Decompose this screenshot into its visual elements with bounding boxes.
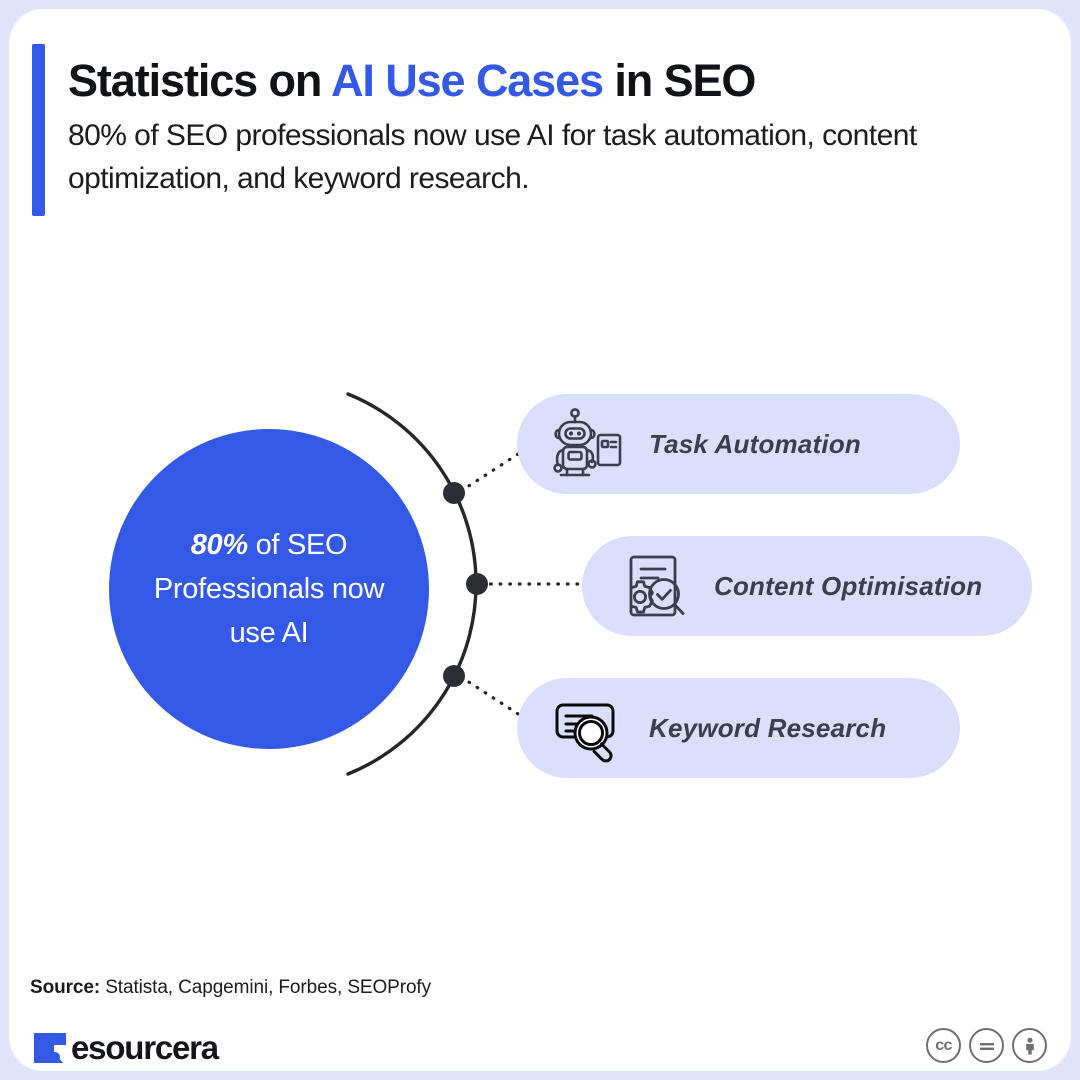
page-title: Statistics on AI Use Cases in SEO xyxy=(68,54,1048,107)
robot-icon xyxy=(545,401,631,487)
stat-circle-text: 80% of SEO Professionals now use AI xyxy=(144,523,394,655)
attribution-person-icon xyxy=(1012,1028,1047,1063)
title-suffix: in SEO xyxy=(603,55,755,106)
header-accent-bar xyxy=(32,44,45,216)
title-prefix: Statistics on xyxy=(68,55,331,106)
cc-icon: cc xyxy=(926,1028,961,1063)
stat-value: 80% xyxy=(191,529,248,561)
source-line: Source: Statista, Capgemini, Forbes, SEO… xyxy=(30,977,431,999)
license-badges: cc xyxy=(926,1028,1047,1063)
source-value: Statista, Capgemini, Forbes, SEOProfy xyxy=(100,977,431,998)
search-document-icon xyxy=(545,685,631,771)
brand-logo[interactable]: esourcera xyxy=(30,1027,218,1069)
stat-description: of SEO Professionals now use AI xyxy=(154,529,384,649)
diagram-item-label: Content Optimisation xyxy=(714,571,982,602)
title-accent: AI Use Cases xyxy=(331,55,603,106)
resourcera-logo-mark xyxy=(30,1028,70,1068)
diagram-item-content-optimisation[interactable]: Content Optimisation xyxy=(582,536,1032,636)
brand-name: esourcera xyxy=(71,1029,218,1067)
stat-circle: 80% of SEO Professionals now use AI xyxy=(109,429,429,749)
diagram-item-keyword-research[interactable]: Keyword Research xyxy=(517,678,960,778)
no-derivatives-icon xyxy=(969,1028,1004,1063)
diagram-item-label: Keyword Research xyxy=(649,713,886,744)
diagram-item-task-automation[interactable]: Task Automation xyxy=(517,394,960,494)
infographic-card: Statistics on AI Use Cases in SEO 80% of… xyxy=(9,9,1071,1071)
diagram-item-label: Task Automation xyxy=(649,429,861,460)
source-label: Source: xyxy=(30,977,100,998)
document-gear-search-icon xyxy=(610,543,696,629)
page-subtitle: 80% of SEO professionals now use AI for … xyxy=(68,115,1058,200)
diagram: 80% of SEO Professionals now use AI xyxy=(9,369,1071,809)
